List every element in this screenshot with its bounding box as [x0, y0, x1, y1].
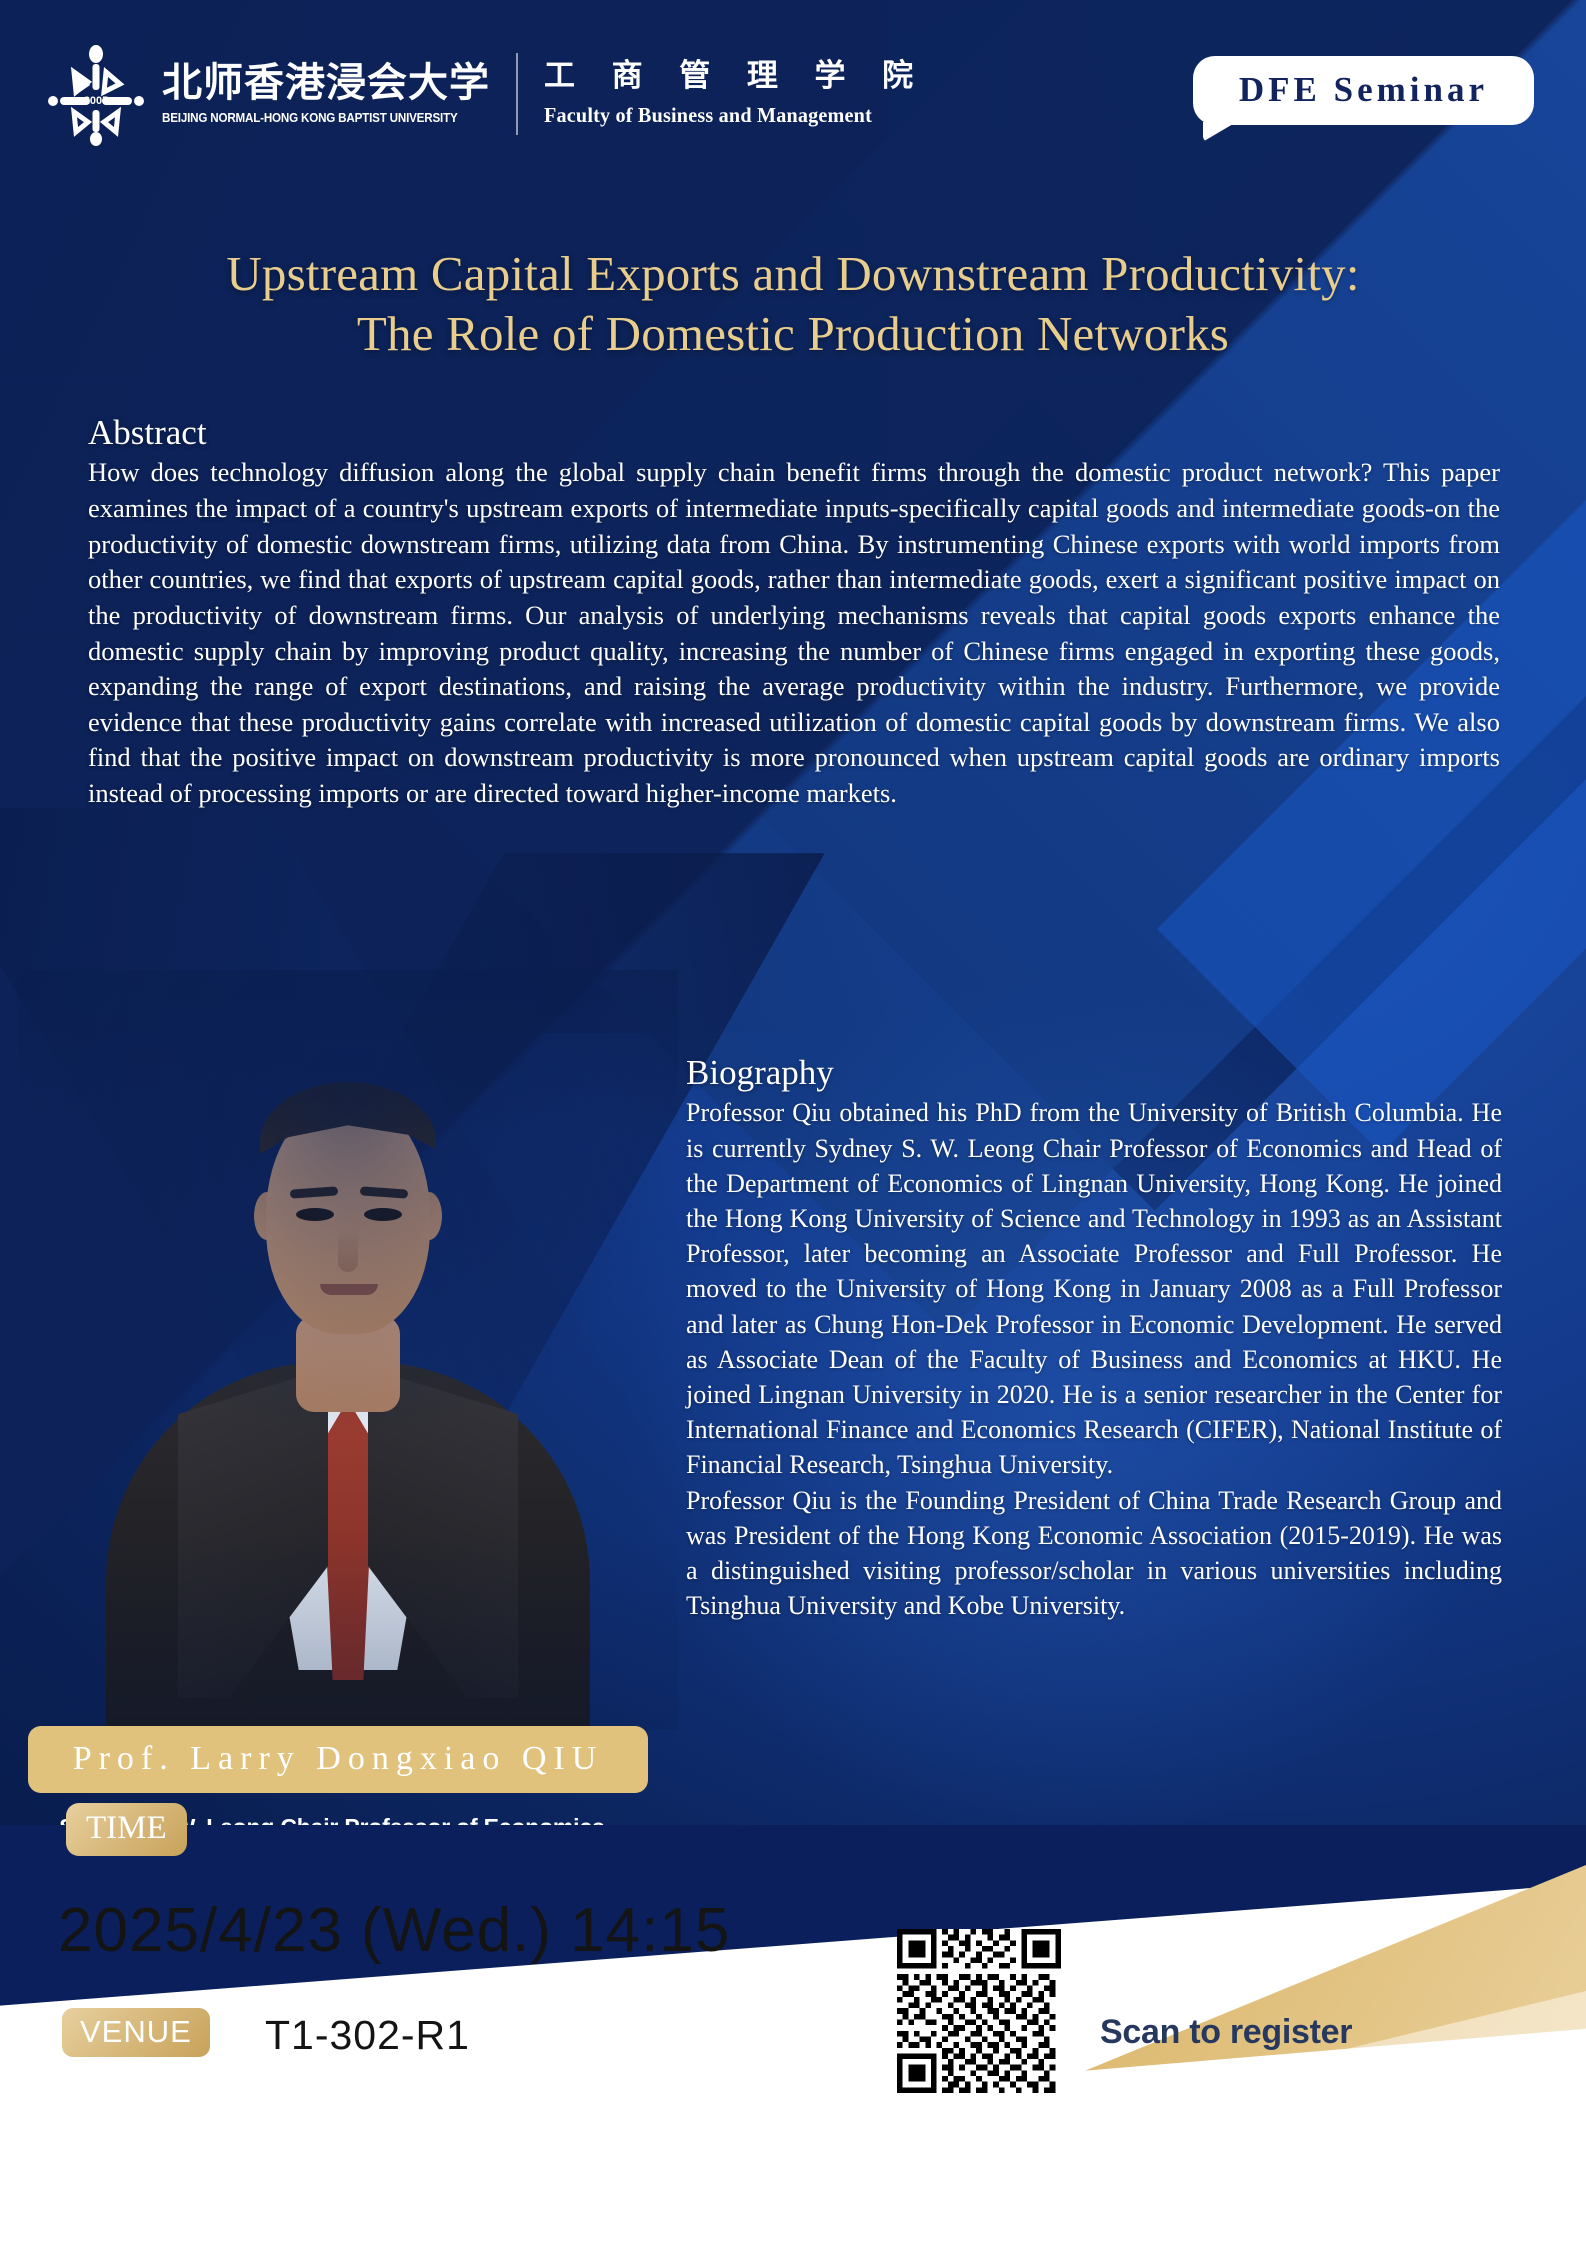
speaker-photo — [18, 970, 678, 1730]
biography-heading: Biography — [686, 1052, 1502, 1093]
faculty-name-block: 工 商 管 理 学 院 Faculty of Business and Mana… — [544, 60, 927, 128]
poster-header: 2005 北师香港浸会大学 BEIJING NORMAL-HONG KONG B… — [0, 0, 1586, 172]
scan-to-register-label: Scan to register — [1100, 2015, 1352, 2049]
seminar-poster: 2005 北师香港浸会大学 BEIJING NORMAL-HONG KONG B… — [0, 0, 1586, 2245]
biography-paragraph-2: Professor Qiu is the Founding President … — [686, 1483, 1502, 1624]
speaker-name: Prof. Larry Dongxiao QIU — [38, 1740, 638, 1777]
dfe-seminar-label: DFE Seminar — [1239, 72, 1488, 109]
university-name-cn: 北师香港浸会大学 — [162, 63, 490, 103]
biography-paragraph-1: Professor Qiu obtained his PhD from the … — [686, 1095, 1502, 1482]
dfe-seminar-badge: DFE Seminar — [1193, 56, 1534, 125]
abstract-body: How does technology diffusion along the … — [88, 455, 1500, 811]
speaker-nameplate: Prof. Larry Dongxiao QIU — [28, 1726, 648, 1793]
svg-text:2005: 2005 — [84, 95, 108, 107]
university-name-en: BEIJING NORMAL-HONG KONG BAPTIST UNIVERS… — [162, 111, 467, 125]
university-name-block: 北师香港浸会大学 BEIJING NORMAL-HONG KONG BAPTIS… — [162, 63, 490, 125]
seminar-title-line-2: The Role of Domestic Production Networks — [0, 304, 1586, 364]
university-logo-block: 2005 北师香港浸会大学 BEIJING NORMAL-HONG KONG B… — [44, 42, 927, 146]
time-value: 2025/4/23 (Wed.) 14:15 — [58, 1900, 730, 1962]
seminar-title-line-1: Upstream Capital Exports and Downstream … — [0, 244, 1586, 304]
abstract-section: Abstract How does technology diffusion a… — [88, 412, 1500, 812]
badge-tail — [1203, 122, 1237, 142]
faculty-name-cn: 工 商 管 理 学 院 — [544, 60, 927, 91]
abstract-heading: Abstract — [88, 412, 1500, 453]
time-label-chip: TIME — [66, 1803, 187, 1856]
faculty-name-en: Faculty of Business and Management — [544, 103, 912, 128]
seminar-title: Upstream Capital Exports and Downstream … — [0, 244, 1586, 364]
venue-value: T1-302-R1 — [265, 2015, 470, 2056]
university-emblem-icon: 2005 — [44, 42, 148, 146]
biography-section: Biography Professor Qiu obtained his PhD… — [686, 1052, 1502, 1624]
portrait-fade-overlay — [18, 970, 678, 1730]
venue-label-chip: VENUE — [62, 2008, 210, 2057]
registration-qr-code[interactable] — [897, 1929, 1061, 2093]
logo-divider — [516, 53, 518, 135]
